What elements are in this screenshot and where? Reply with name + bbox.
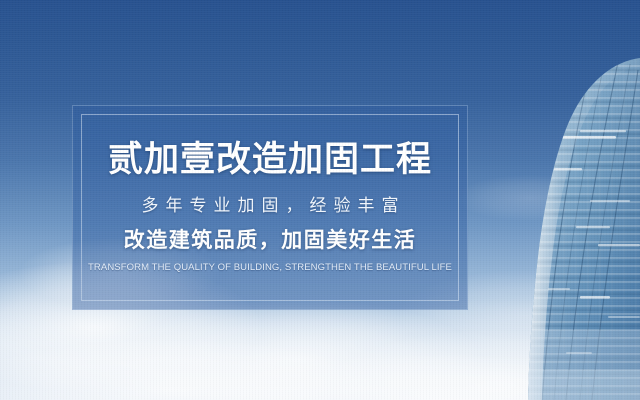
hero-banner: 贰加壹改造加固工程 多年专业加固，经验丰富 改造建筑品质，加固美好生活 TRAN… (0, 0, 640, 400)
banner-headline: 贰加壹改造加固工程 (108, 142, 432, 177)
banner-english-line: TRANSFORM THE QUALITY OF BUILDING, STREN… (88, 263, 452, 273)
hero-text-panel: 贰加壹改造加固工程 多年专业加固，经验丰富 改造建筑品质，加固美好生活 TRAN… (72, 105, 468, 310)
skyscraper-illustration (480, 0, 640, 400)
banner-tagline: 改造建筑品质，加固美好生活 (124, 230, 417, 251)
skyscraper-image (480, 0, 640, 400)
panel-content: 贰加壹改造加固工程 多年专业加固，经验丰富 改造建筑品质，加固美好生活 TRAN… (73, 106, 467, 309)
banner-subline: 多年专业加固，经验丰富 (135, 197, 406, 214)
